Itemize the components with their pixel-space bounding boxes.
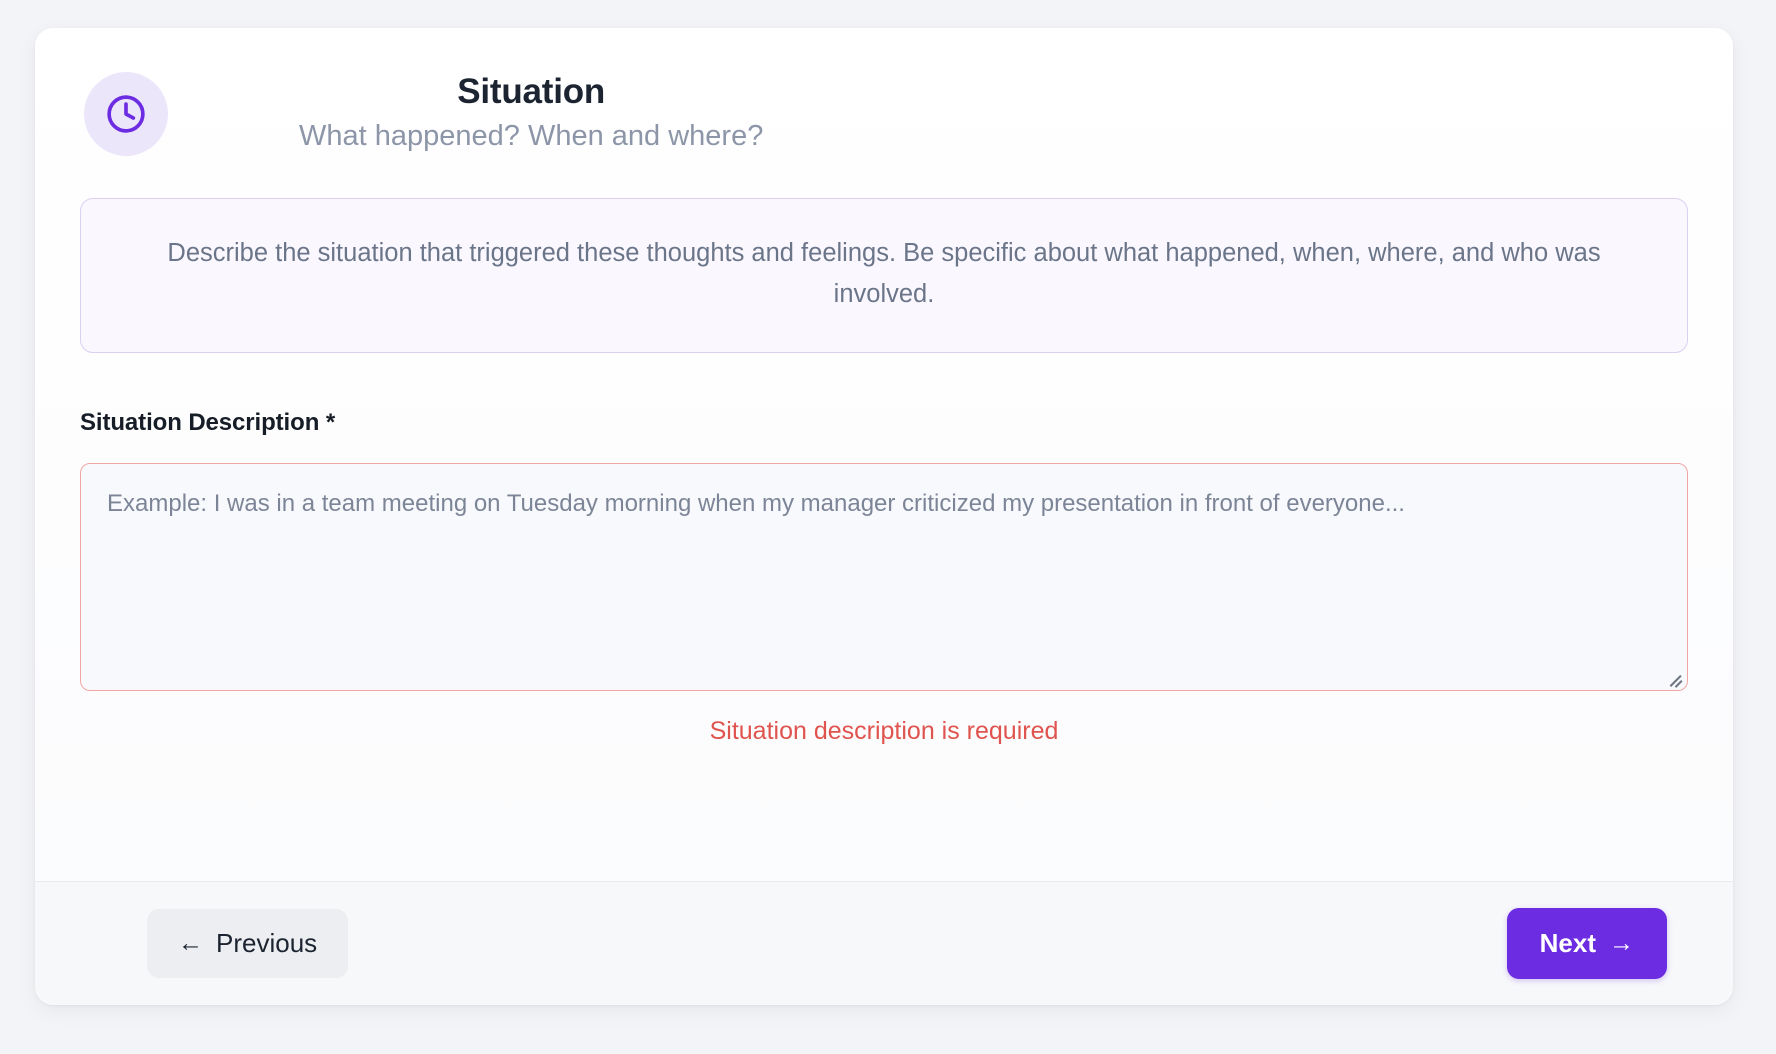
step-header-text: Situation What happened? When and where?	[194, 72, 763, 156]
card-body: Situation What happened? When and where?…	[35, 28, 1733, 881]
arrow-right-icon: →	[1609, 931, 1634, 956]
page-title: Situation	[457, 72, 605, 112]
page-subtitle: What happened? When and where?	[299, 118, 763, 156]
step-header: Situation What happened? When and where?	[80, 72, 1688, 156]
app-root: Situation What happened? When and where?…	[0, 0, 1776, 1054]
arrow-left-icon: ←	[178, 931, 203, 956]
previous-button[interactable]: ← Previous	[147, 909, 348, 978]
textarea-resize-handle[interactable]	[1667, 670, 1683, 686]
validation-error-message: Situation description is required	[80, 717, 1688, 746]
wizard-step-card: Situation What happened? When and where?…	[35, 28, 1733, 1005]
instruction-callout: Describe the situation that triggered th…	[80, 198, 1688, 353]
wizard-footer: ← Previous Next →	[35, 881, 1733, 1005]
next-button[interactable]: Next →	[1507, 908, 1667, 979]
situation-description-input[interactable]: Example: I was in a team meeting on Tues…	[80, 463, 1688, 691]
clock-icon	[104, 92, 148, 136]
clock-icon-badge	[84, 72, 168, 156]
situation-description-label: Situation Description *	[80, 409, 1688, 437]
previous-button-label: Previous	[216, 928, 317, 959]
next-button-label: Next	[1540, 928, 1596, 959]
situation-description-placeholder: Example: I was in a team meeting on Tues…	[107, 486, 1661, 522]
instruction-text: Describe the situation that triggered th…	[121, 233, 1647, 316]
